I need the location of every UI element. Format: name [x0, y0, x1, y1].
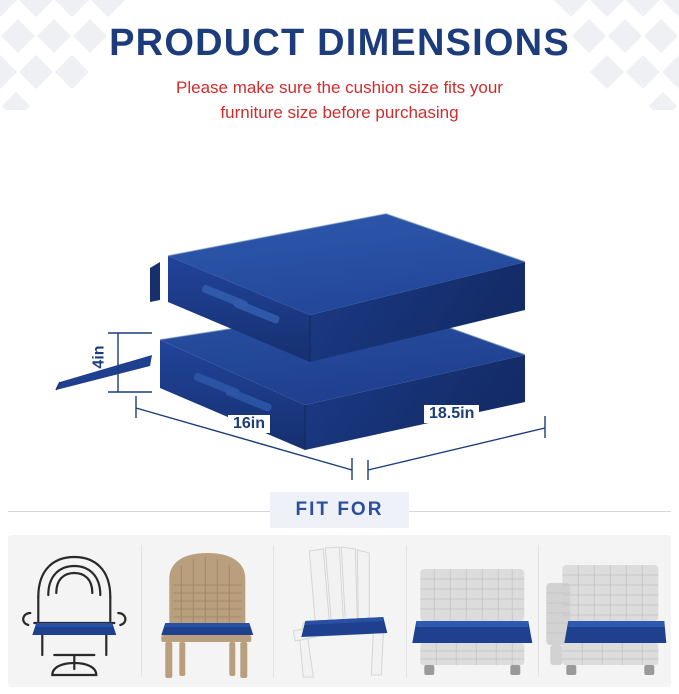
fit-for-section-header: FIT FOR	[0, 492, 679, 532]
swivel-metal-patio-chair-icon	[8, 535, 141, 687]
product-dimensions-infographic: PRODUCT DIMENSIONS Please make sure the …	[0, 0, 679, 694]
page-subtitle: Please make sure the cushion size fits y…	[105, 75, 575, 125]
fit-for-label: FIT FOR	[270, 492, 410, 528]
subtitle-line-1: Please make sure the cushion size fits y…	[105, 75, 575, 100]
subtitle-line-2: furniture size before purchasing	[105, 100, 575, 125]
thumbnail-swivel-metal-patio-chair[interactable]	[8, 535, 141, 687]
product-illustration: 4in 16in 18.5in	[0, 150, 679, 480]
stacked-cushions-graphic	[0, 150, 679, 480]
thumbnail-white-adirondack-chair[interactable]	[273, 535, 406, 687]
fit-for-thumbnail-strip	[8, 535, 671, 687]
thumbnail-wicker-armless-sofa-section[interactable]	[406, 535, 539, 687]
wicker-corner-sofa-section-icon	[538, 535, 671, 687]
header: PRODUCT DIMENSIONS Please make sure the …	[0, 0, 679, 125]
page-title: PRODUCT DIMENSIONS	[0, 0, 679, 65]
dimension-width-label: 16in	[228, 415, 270, 433]
dimension-height-label: 4in	[91, 345, 109, 368]
white-adirondack-chair-icon	[273, 535, 406, 687]
thumbnail-wicker-corner-sofa-section[interactable]	[538, 535, 671, 687]
wicker-dining-chair-icon	[141, 535, 274, 687]
thumbnail-wicker-dining-chair[interactable]	[141, 535, 274, 687]
wicker-armless-sofa-section-icon	[406, 535, 539, 687]
dimension-depth-label: 18.5in	[424, 405, 479, 423]
